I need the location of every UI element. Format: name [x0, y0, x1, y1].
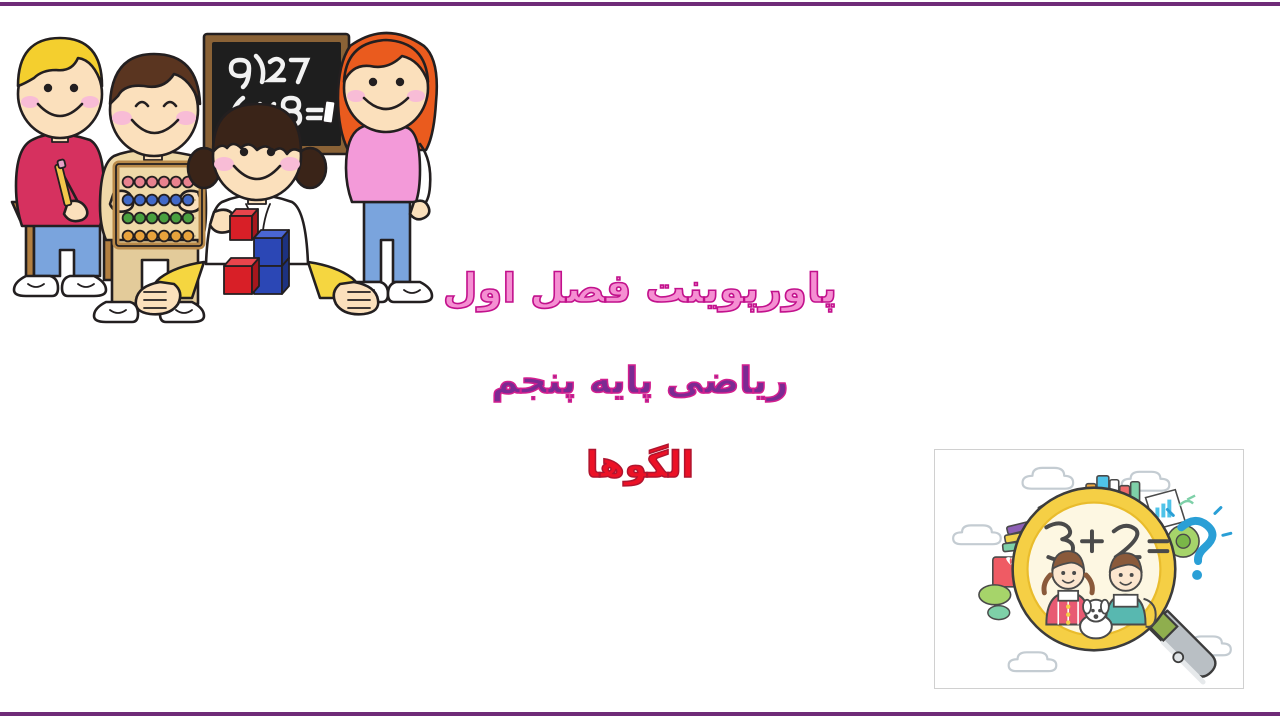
title-line-2: ریاضی پایه پنجم [430, 362, 850, 401]
title-block: پاورپوینت فصل اول ریاضی پایه پنجم الگوها [430, 268, 850, 485]
top-accent-rule [0, 2, 1280, 6]
white-dog [1080, 600, 1112, 639]
bottom-accent-rule [0, 712, 1280, 716]
title-line-3: الگوها [430, 447, 850, 485]
magnifying-glass-math-image [934, 449, 1244, 689]
slide-canvas: .ol{stroke:#231f20;stroke-width:2.6;stro… [0, 0, 1280, 720]
child-red-hair-girl [338, 33, 437, 302]
classroom-children-clipart: .ol{stroke:#231f20;stroke-width:2.6;stro… [8, 16, 460, 332]
title-line-1: پاورپوینت فصل اول [430, 268, 850, 310]
